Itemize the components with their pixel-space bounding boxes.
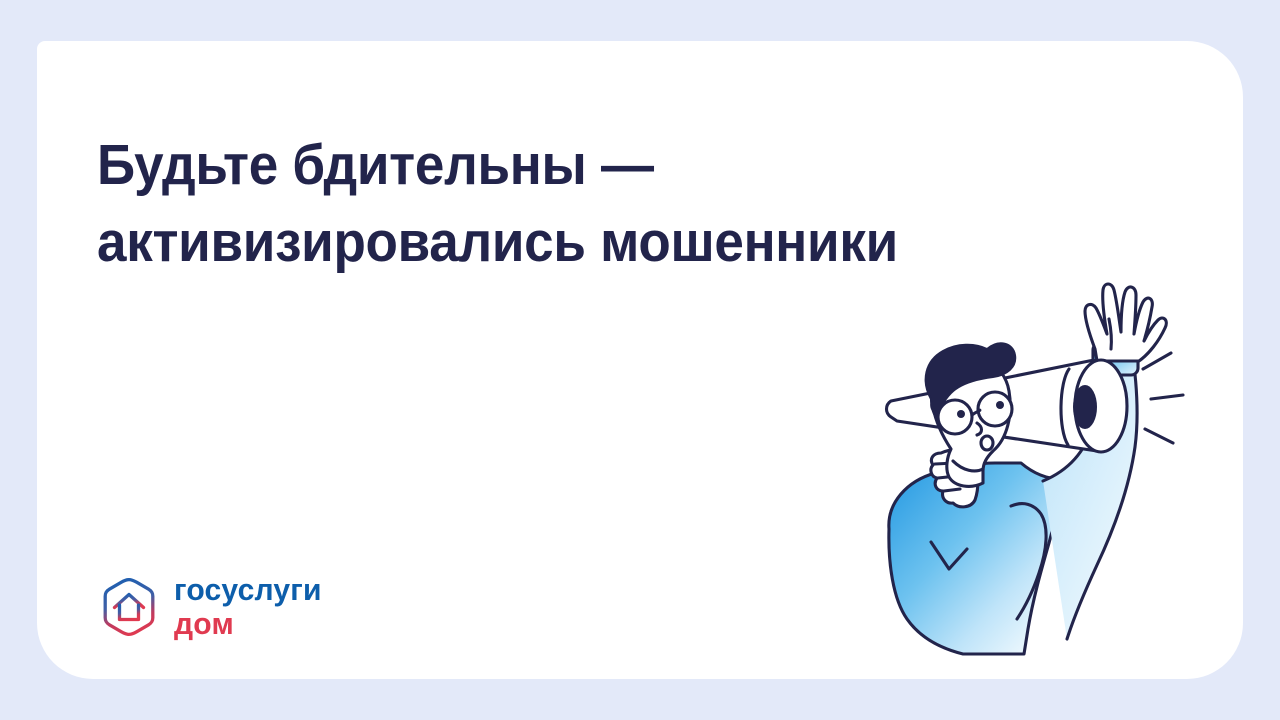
- sound-lines: [1143, 353, 1183, 443]
- house-hexagon-icon: [98, 576, 160, 638]
- person-with-megaphone-illustration: [871, 257, 1201, 657]
- eye-left: [957, 410, 965, 418]
- brand-logo-wordmark: госуслуги дом: [174, 574, 326, 639]
- poster-canvas: Будьте бдительны — активизировались моше…: [0, 0, 1280, 720]
- brand-name-primary: госуслуги: [174, 574, 322, 605]
- content-card: Будьте бдительны — активизировались моше…: [37, 41, 1243, 679]
- eye-right: [996, 401, 1004, 409]
- megaphone-inner-ellipse: [1073, 385, 1097, 429]
- brand-name-secondary: дом: [174, 608, 322, 639]
- raised-hand: [1085, 284, 1166, 361]
- finger-line-3: [944, 489, 960, 491]
- brand-logo[interactable]: госуслуги дом: [98, 574, 326, 639]
- mouth: [981, 436, 993, 450]
